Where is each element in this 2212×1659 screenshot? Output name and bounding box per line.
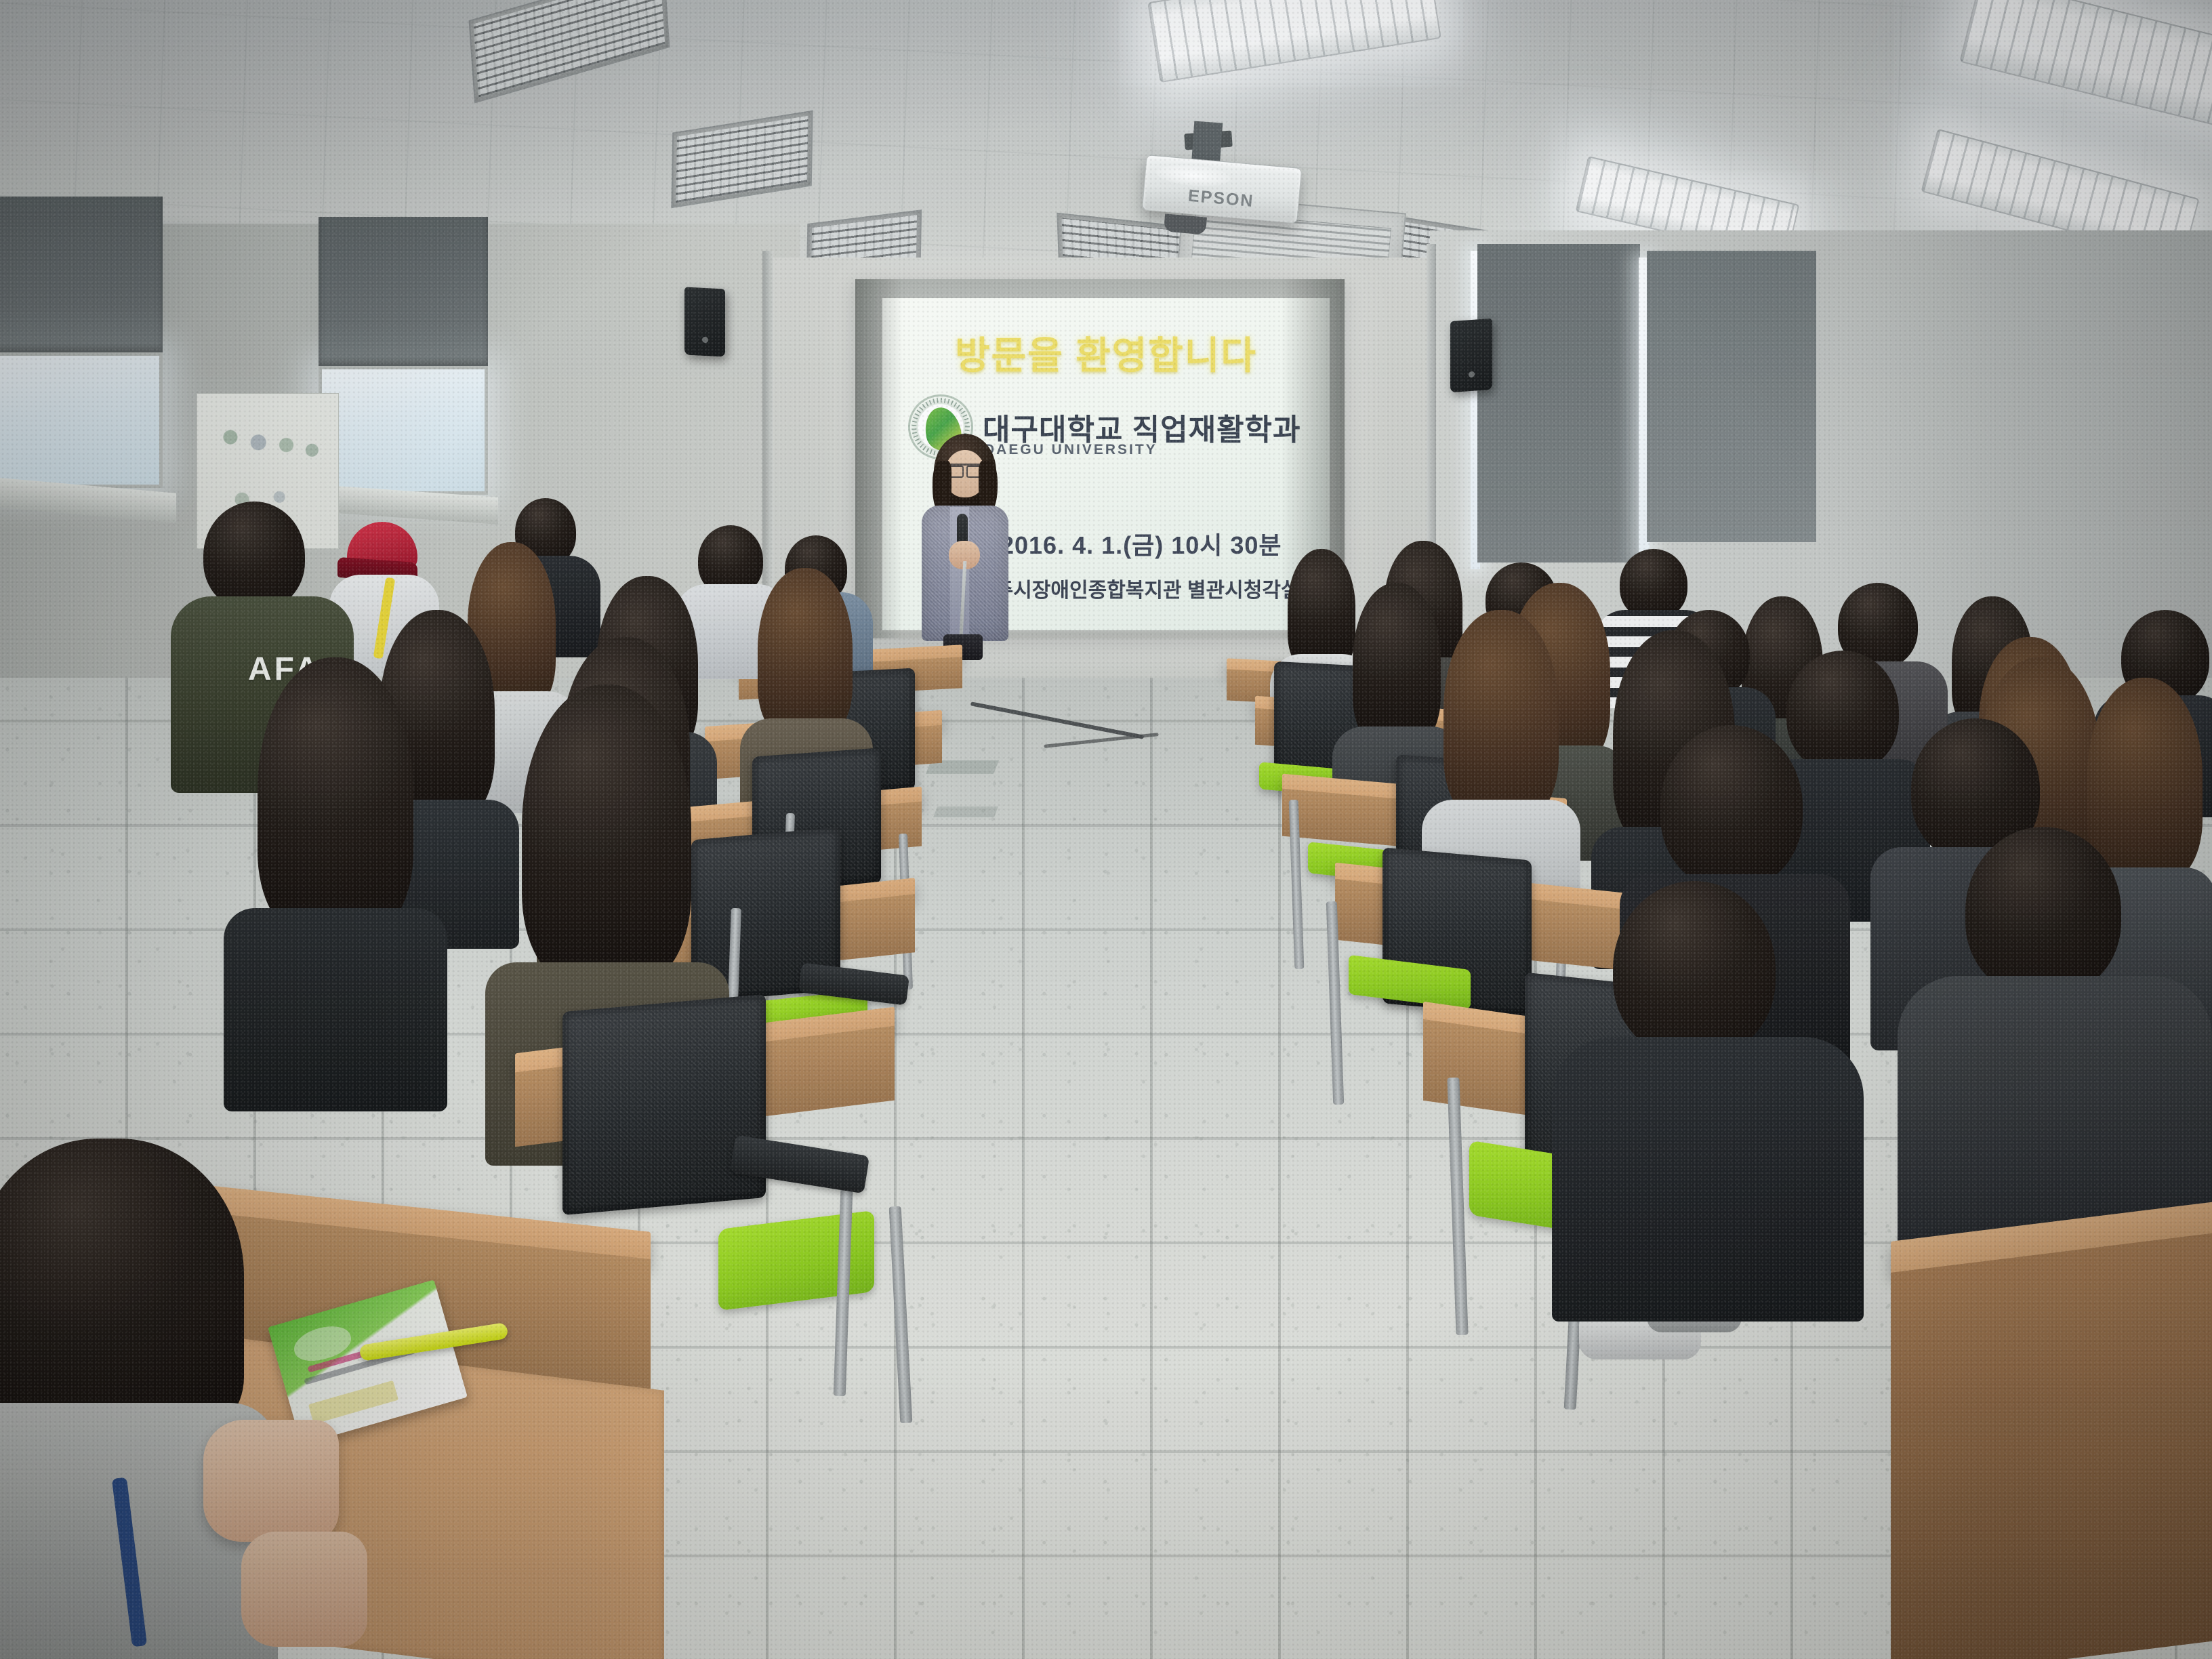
window-left-2	[319, 366, 488, 495]
window-blind-right-1[interactable]	[1477, 244, 1640, 562]
student-head	[1965, 827, 2121, 996]
student-head	[1786, 651, 1899, 773]
student-long-hair	[2087, 678, 2203, 881]
student-head	[203, 501, 305, 610]
slide-datetime: : 2016. 4. 1.(금) 10시 30분	[984, 526, 1282, 561]
slide-venue: 경주시장애인종합복지관 별관시청각실	[976, 573, 1300, 603]
desk-panel	[1891, 1229, 2212, 1659]
student-head	[1620, 549, 1687, 619]
window-left-1	[0, 352, 163, 488]
window-blind-left-1[interactable]	[0, 197, 163, 352]
student-body	[224, 908, 447, 1111]
student-long-hair	[758, 568, 853, 737]
screen-edge-shading	[855, 279, 903, 638]
student-head	[1660, 725, 1803, 888]
student-head	[1613, 881, 1776, 1057]
student-long-hair	[1288, 549, 1355, 671]
student-long-hair	[258, 657, 413, 935]
student-long-hair	[1353, 583, 1441, 745]
window-blind-right-2[interactable]	[1647, 251, 1816, 542]
student-long-hair	[522, 684, 691, 983]
classroom-photo: EPSON 방문을 환영합니다 대구대학교 직업재활학과 DAEGU UNIVE…	[0, 0, 2212, 1659]
wall-speaker-right	[1450, 319, 1492, 392]
foreground-person-hand	[203, 1420, 339, 1542]
wall-speaker-left	[684, 287, 725, 356]
projector-brand-label: EPSON	[1143, 182, 1299, 216]
foreground-person-hand	[241, 1532, 367, 1647]
chair-back[interactable]	[562, 994, 766, 1215]
foreground-person-head	[0, 1139, 244, 1437]
floor-marking	[933, 806, 998, 817]
student-body	[1552, 1037, 1864, 1322]
window-blind-left-2[interactable]	[319, 217, 488, 366]
student-long-hair	[1443, 610, 1559, 820]
presenter-with-microphone	[914, 434, 1015, 657]
slide-title: 방문을 환영합니다	[882, 325, 1330, 380]
